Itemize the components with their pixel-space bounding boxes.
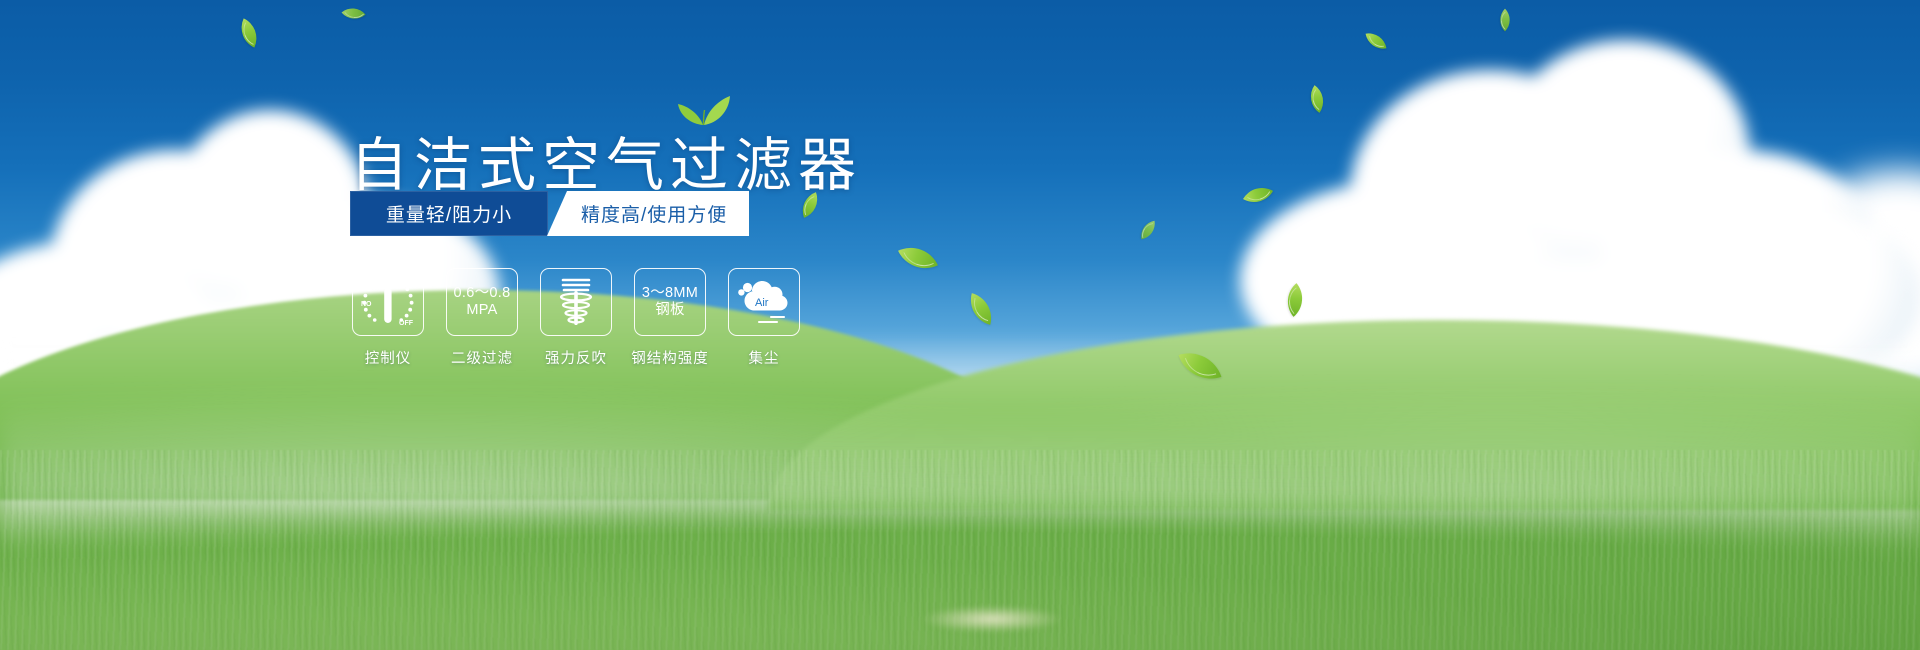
page-title: 自洁式空气过滤器	[350, 118, 862, 202]
feature-list: NO OFF 控制仪 0.6～0.8 MPA 二级过滤	[352, 268, 800, 368]
pressure-text-icon: 0.6～0.8 MPA	[454, 285, 511, 319]
feature-label-dust: 集尘	[749, 347, 780, 368]
feature-box-control: NO OFF	[352, 268, 424, 336]
feature-box-steel: 3～8MM 钢板	[634, 268, 706, 336]
tag-secondary-wrap: 精度高/使用方便	[547, 191, 749, 236]
feature-box-pressure: 0.6～0.8 MPA	[446, 268, 518, 336]
feature-label-steel: 钢结构强度	[631, 347, 709, 368]
feature-label-reverse-blow: 强力反吹	[545, 347, 607, 368]
feature-tag-row: 重量轻/阻力小 精度高/使用方便	[350, 191, 749, 236]
feature-label-pressure: 二级过滤	[451, 347, 513, 368]
feature-item-steel: 3～8MM 钢板 钢结构强度	[634, 268, 706, 368]
gauge-label-on: NO	[361, 301, 372, 308]
feature-item-control: NO OFF 控制仪	[352, 268, 424, 368]
product-banner: 自洁式空气过滤器 重量轻/阻力小 精度高/使用方便	[0, 0, 1920, 650]
steel-plate-text-icon: 3～8MM 钢板	[642, 285, 698, 319]
feature-box-reverse-blow	[540, 268, 612, 336]
control-gauge-icon: NO OFF	[359, 275, 417, 329]
air-cloud-label: Air	[755, 297, 769, 309]
feature-item-reverse-blow: 强力反吹	[540, 268, 612, 368]
feature-item-pressure: 0.6～0.8 MPA 二级过滤	[446, 268, 518, 368]
reverse-blow-coil-icon	[551, 275, 601, 329]
gauge-label-off: OFF	[399, 320, 414, 327]
tag-secondary: 精度高/使用方便	[547, 191, 749, 236]
feature-box-dust: Air	[728, 268, 800, 336]
feature-item-dust: Air 集尘	[728, 268, 800, 368]
tag-primary: 重量轻/阻力小	[350, 191, 548, 236]
air-cloud-icon: Air	[735, 277, 793, 327]
feature-label-control: 控制仪	[365, 347, 412, 368]
banner-content: 自洁式空气过滤器 重量轻/阻力小 精度高/使用方便	[0, 0, 1920, 650]
